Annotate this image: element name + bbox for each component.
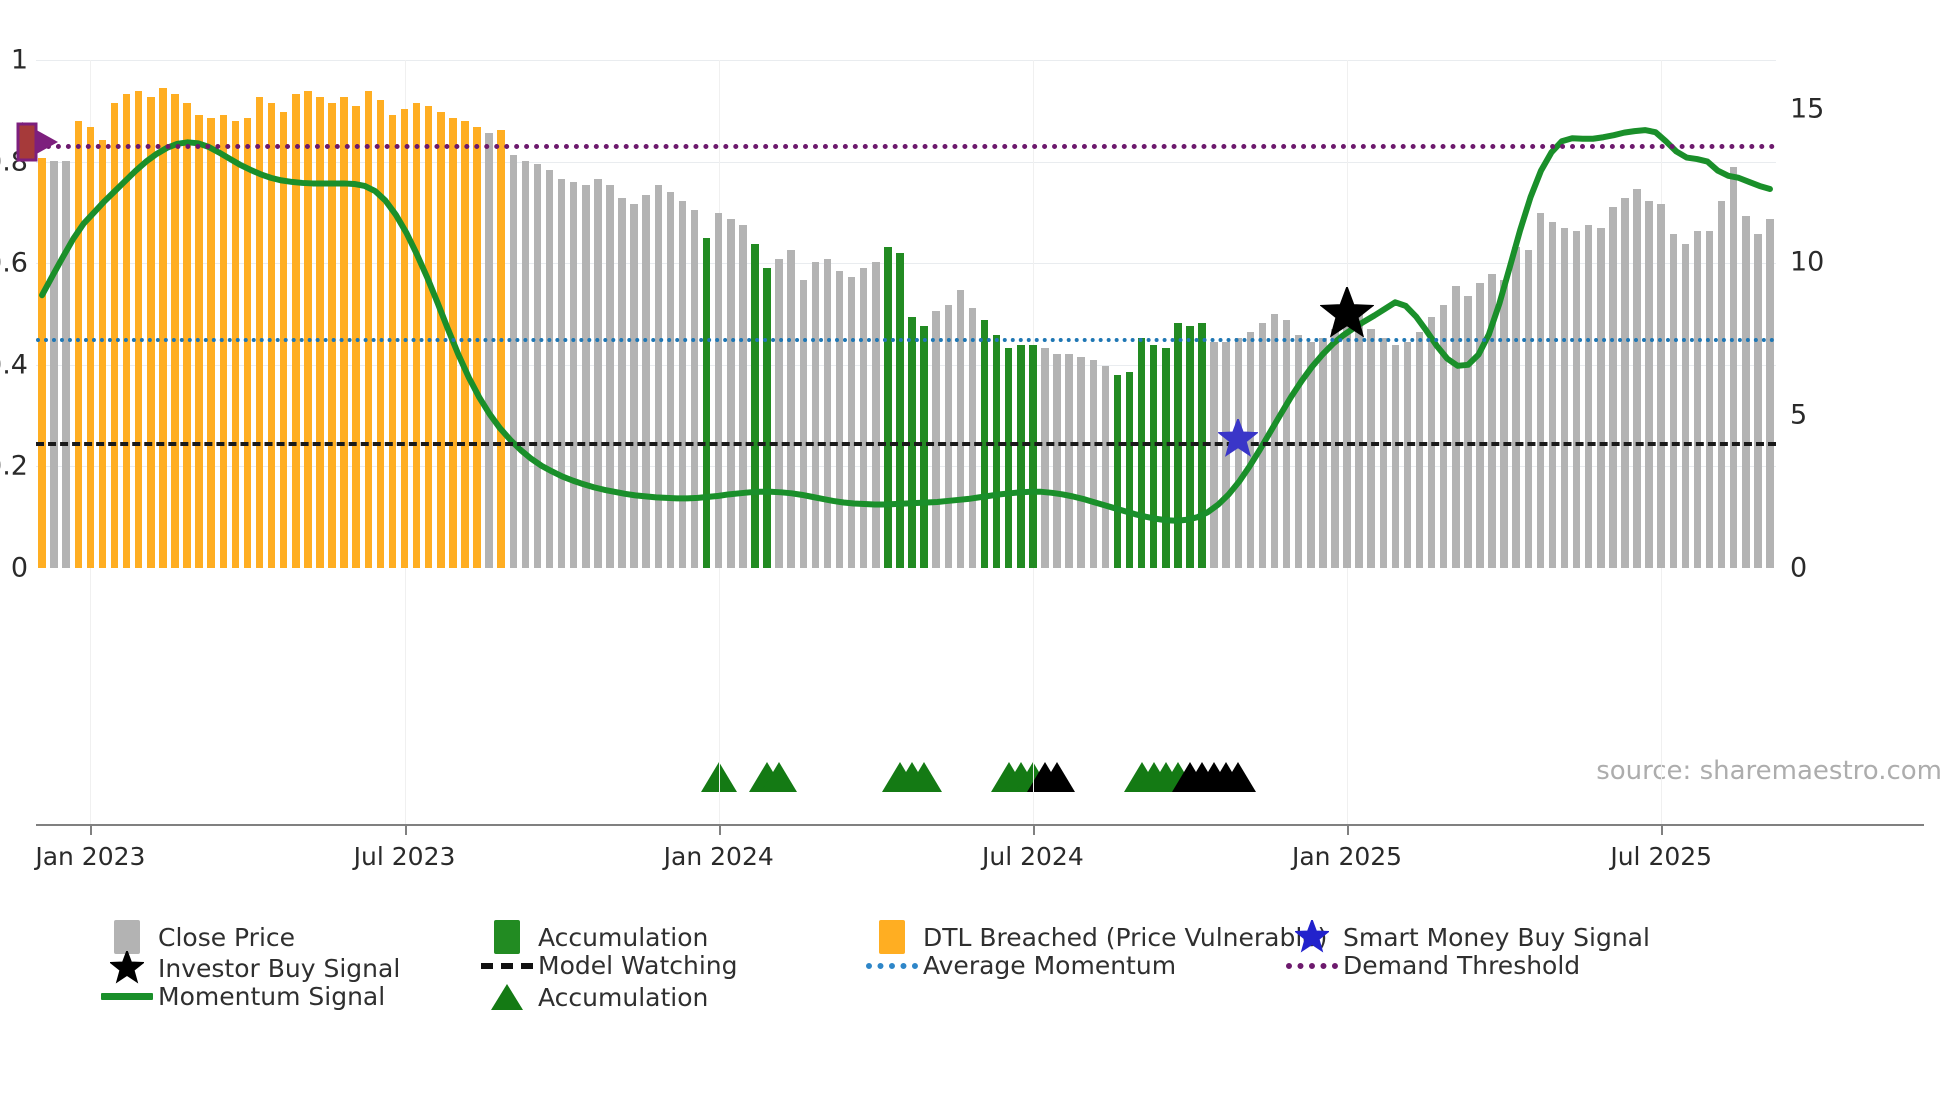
- plot-area: [36, 60, 1776, 568]
- line-green-icon: [96, 993, 158, 1000]
- legend-label: Investor Buy Signal: [158, 954, 400, 983]
- vertical-gridline-extension: [90, 568, 91, 824]
- left-axis-tick: 0.4: [0, 349, 28, 380]
- accumulation-triangle-icon: [905, 760, 943, 798]
- legend-item-dash-black[interactable]: Model Watching: [476, 951, 738, 980]
- demand-threshold-marker-icon: [14, 116, 66, 172]
- legend-item-square-green[interactable]: Accumulation: [476, 920, 708, 954]
- right-axis-tick: 0: [1790, 553, 1807, 584]
- legend-label: DTL Breached (Price Vulnerable): [923, 923, 1327, 952]
- x-axis-tick-label: Jan 2024: [664, 842, 774, 871]
- dot-blue-icon: [861, 963, 923, 969]
- legend-row: Investor Buy SignalModel WatchingAverage…: [96, 951, 1896, 982]
- x-axis-tick-label: Jul 2025: [1610, 842, 1712, 871]
- x-tick-mark: [1347, 826, 1349, 835]
- legend-label: Close Price: [158, 923, 295, 952]
- legend-label: Model Watching: [538, 951, 738, 980]
- x-tick-mark: [90, 826, 92, 835]
- x-tick-mark: [1661, 826, 1663, 835]
- triangle-green-icon: [476, 982, 538, 1012]
- chart-canvas: 00.20.40.60.81 051015 Jan 2023Jul 2023Ja…: [0, 0, 1960, 1102]
- legend-item-line-green[interactable]: Momentum Signal: [96, 982, 385, 1011]
- legend-item-dot-blue[interactable]: Average Momentum: [861, 951, 1176, 980]
- momentum-signal-line: [36, 60, 1776, 568]
- vertical-gridline-extension: [1661, 568, 1662, 824]
- legend-item-square-gray[interactable]: Close Price: [96, 920, 295, 954]
- x-tick-mark: [405, 826, 407, 835]
- legend-label: Momentum Signal: [158, 982, 385, 1011]
- left-axis-tick: 0.6: [0, 248, 28, 279]
- left-axis-tick: 1: [11, 45, 28, 76]
- square-orange-icon: [861, 920, 923, 954]
- x-tick-mark: [1033, 826, 1035, 835]
- legend-label: Smart Money Buy Signal: [1343, 923, 1650, 952]
- x-axis-tick-label: Jan 2023: [35, 842, 145, 871]
- accumulation-triangle-icon: [1038, 760, 1076, 798]
- legend-label: Accumulation: [538, 983, 708, 1012]
- dot-purple-icon: [1281, 963, 1343, 969]
- right-axis-tick: 5: [1790, 399, 1807, 430]
- legend-item-square-orange[interactable]: DTL Breached (Price Vulnerable): [861, 920, 1327, 954]
- vertical-gridline-extension: [1347, 568, 1348, 824]
- star-blue-icon: [1281, 920, 1343, 954]
- legend-item-triangle-green[interactable]: Accumulation: [476, 982, 708, 1012]
- reference-line-average-momentum: [36, 338, 1776, 342]
- reference-line-demand-threshold: [36, 144, 1776, 149]
- right-axis-tick: 10: [1790, 246, 1824, 277]
- chart-legend: Close PriceAccumulationDTL Breached (Pri…: [96, 920, 1896, 1013]
- square-gray-icon: [96, 920, 158, 954]
- accumulation-triangle-icon: [1219, 760, 1257, 798]
- legend-item-dot-purple[interactable]: Demand Threshold: [1281, 951, 1580, 980]
- left-axis-tick: 0: [11, 553, 28, 584]
- momentum-signal-path: [42, 130, 1770, 521]
- x-tick-mark: [719, 826, 721, 835]
- legend-row: Momentum SignalAccumulation: [96, 982, 1896, 1013]
- legend-item-star-blue[interactable]: Smart Money Buy Signal: [1281, 920, 1650, 954]
- x-axis-line: [36, 824, 1924, 826]
- legend-item-star-black[interactable]: Investor Buy Signal: [96, 951, 400, 985]
- dash-black-icon: [476, 963, 538, 969]
- vertical-gridline-extension: [1033, 568, 1034, 824]
- legend-label: Accumulation: [538, 923, 708, 952]
- x-axis-tick-label: Jul 2024: [982, 842, 1084, 871]
- x-axis-tick-label: Jul 2023: [354, 842, 456, 871]
- legend-row: Close PriceAccumulationDTL Breached (Pri…: [96, 920, 1896, 951]
- square-green-icon: [476, 920, 538, 954]
- right-axis-tick: 15: [1790, 93, 1824, 124]
- legend-label: Demand Threshold: [1343, 951, 1580, 980]
- vertical-gridline-extension: [719, 568, 720, 824]
- star-black-icon: [96, 951, 158, 985]
- investor-buy-signal-star-icon: [1320, 287, 1374, 345]
- x-axis-tick-label: Jan 2025: [1292, 842, 1402, 871]
- source-attribution: source: sharemaestro.com: [1596, 756, 1942, 786]
- legend-label: Average Momentum: [923, 951, 1176, 980]
- left-axis-tick: 0.2: [0, 451, 28, 482]
- reference-line-model-watching: [36, 442, 1776, 446]
- smart-money-buy-signal-star-icon: [1218, 419, 1258, 463]
- accumulation-triangle-icon: [760, 760, 798, 798]
- vertical-gridline-extension: [405, 568, 406, 824]
